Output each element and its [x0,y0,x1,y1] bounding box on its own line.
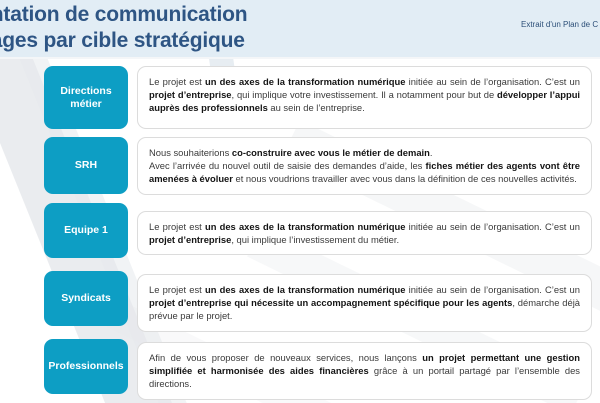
message-text: Afin de vous proposer de nouveaux servic… [149,351,580,391]
message-card: Le projet est un des axes de la transfor… [137,66,592,129]
message-emphasis: un des axes de la transformation numériq… [205,284,405,295]
message-span: initiée au sein de l’organisation. C’est… [405,76,580,87]
message-text: Nous souhaiterions co-construire avec vo… [149,146,580,159]
message-card: Le projet est un des axes de la transfor… [137,211,592,255]
page-title-line-1: …ntation de communication [0,3,247,26]
message-span: initiée au sein de l’organisation. C’est… [405,221,580,232]
message-text: Le projet est un des axes de la transfor… [149,75,580,115]
header-source-note: Extrait d'un Plan de C [521,20,598,29]
message-emphasis: projet d’entreprise [149,89,232,100]
message-span: au sein de l’entreprise. [268,102,365,113]
page-title: …ntation de communication …ages par cibl… [0,2,390,54]
message-emphasis: projet d’entreprise [149,234,231,245]
audience-pill-label: Syndicats [61,292,111,305]
presentation-slide: …ntation de communication …ages par cibl… [0,0,600,403]
audience-pill[interactable]: Syndicats [44,271,128,326]
audience-pill[interactable]: Directionsmétier [44,66,128,129]
message-span: Afin de vous proposer de nouveaux servic… [149,352,422,363]
page-title-line-2: …ages par cible stratégique [0,28,390,54]
audience-pill-label: SRH [75,159,97,172]
message-emphasis: projet d’entreprise qui nécessite un acc… [149,297,512,308]
audience-pill[interactable]: Equipe 1 [44,203,128,258]
message-span: Nous souhaiterions [149,147,232,158]
message-emphasis: un des axes de la transformation numériq… [205,221,405,232]
message-emphasis: un des axes de la transformation numériq… [205,76,405,87]
message-span: Le projet est [149,284,205,295]
message-span: . [430,147,433,158]
message-rows: DirectionsmétierLe projet est un des axe… [0,0,600,403]
message-text: Le projet est un des axes de la transfor… [149,283,580,323]
message-card: Nous souhaiterions co-construire avec vo… [137,137,592,195]
message-span: Le projet est [149,76,205,87]
message-span: , qui implique votre investissement. Il … [232,89,497,100]
audience-pill-label: Directionsmétier [60,85,111,111]
message-text: Le projet est un des axes de la transfor… [149,220,580,246]
message-card: Le projet est un des axes de la transfor… [137,274,592,332]
message-span: et nous voudrions travailler avec vous d… [233,173,577,184]
message-span: , qui implique l’investissement du métie… [231,234,399,245]
message-card: Afin de vous proposer de nouveaux servic… [137,342,592,400]
audience-pill-label: Professionnels [48,360,123,373]
message-span: initiée au sein de l’organisation. C’est… [405,284,580,295]
message-span: Avec l’arrivée du nouvel outil de saisie… [149,160,426,171]
audience-pill[interactable]: Professionnels [44,339,128,394]
audience-pill[interactable]: SRH [44,137,128,194]
message-span: Le projet est [149,221,205,232]
message-emphasis: co-construire avec vous le métier de dem… [232,147,430,158]
message-text: Avec l’arrivée du nouvel outil de saisie… [149,159,580,185]
audience-pill-label: Equipe 1 [64,224,108,237]
